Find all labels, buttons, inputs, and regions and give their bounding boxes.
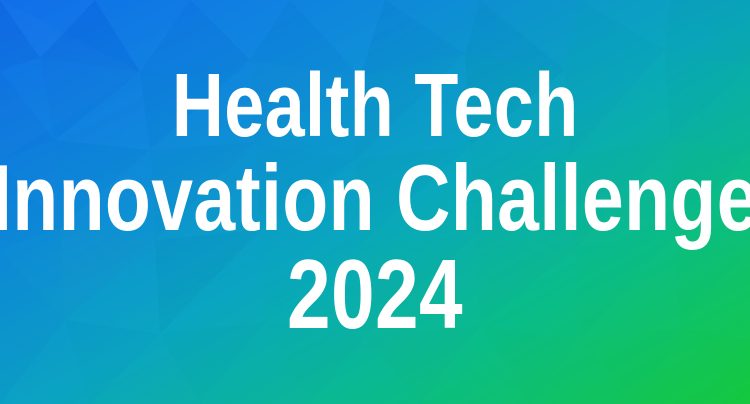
- low-poly-background: [0, 0, 750, 404]
- event-banner: Health Tech Innovation Challenge 2024: [0, 0, 750, 404]
